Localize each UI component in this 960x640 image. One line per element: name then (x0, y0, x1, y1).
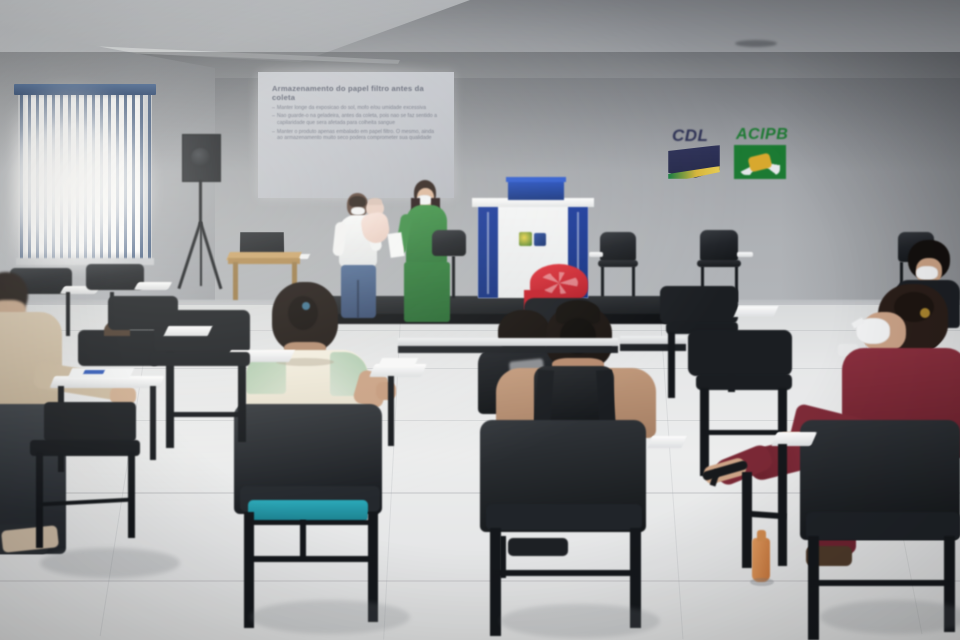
podium-emblem-right (534, 233, 546, 246)
podium-riser-lip (506, 177, 566, 182)
chair-seat (150, 352, 250, 366)
chair-leg (632, 266, 635, 300)
floor-shadow (40, 548, 180, 578)
podium-groove (487, 212, 489, 294)
attendee-left-chair-seat (30, 440, 140, 456)
floor-shadow (250, 600, 410, 634)
chair-leg (166, 352, 174, 448)
empty-chair-back[interactable] (700, 230, 738, 262)
slide-bullet: Nao guarde-o na geladeira, antes da cole… (272, 113, 440, 126)
chair-behind-presenters[interactable] (432, 230, 466, 256)
slide-bullet: Manter longe da exposicao do sol, mofo e… (272, 105, 440, 111)
bandana-paisley-pattern (540, 272, 578, 294)
paper-on-desk (378, 358, 418, 367)
jeans-seam (357, 280, 359, 318)
bottle-shadow (750, 578, 774, 586)
female-presenter-dress-skirt (404, 262, 450, 322)
chair-stretcher (704, 430, 784, 435)
wall-logos: CDL ACIPB (664, 126, 794, 198)
hair-clip (302, 302, 310, 310)
chair-tablet-arm (734, 306, 779, 317)
floor-shadow (500, 604, 660, 638)
chair-leg (742, 472, 752, 568)
chair-leg (808, 536, 819, 640)
desk-leg (388, 376, 394, 446)
empty-chair-back[interactable] (108, 296, 178, 330)
desk-leg (150, 386, 156, 460)
notebook-spine (83, 370, 105, 374)
empty-chair-back[interactable] (600, 232, 636, 262)
chair-leg (668, 332, 675, 398)
empty-chair-back[interactable] (660, 286, 738, 324)
chair-tablet-arm (737, 252, 753, 257)
male-presenter-hair (349, 196, 366, 207)
speaker-cone (191, 148, 210, 167)
water-bottle[interactable] (752, 538, 770, 582)
podium-emblem-left (519, 232, 532, 246)
chair-stretcher (494, 570, 636, 576)
empty-chair-back[interactable] (688, 330, 792, 376)
podium-riser (508, 180, 564, 200)
chair-stretcher (500, 536, 506, 578)
attendee-left-chair-back[interactable] (44, 402, 136, 442)
chair-leg (66, 292, 70, 336)
chair-stretcher (248, 556, 374, 562)
chair-leg (778, 444, 787, 566)
table-top-edge (228, 258, 300, 264)
chair-tablet-arm (134, 282, 173, 290)
back-desk-edge (398, 346, 618, 353)
teal-item-on-chair (248, 500, 368, 522)
ceiling-vent (735, 40, 777, 47)
chair-stretcher (252, 520, 370, 525)
chair-leg (244, 512, 254, 628)
window-glow (12, 82, 158, 270)
chair-stretcher (812, 580, 950, 586)
chair-leg (36, 452, 43, 548)
tripod-leg (200, 222, 202, 286)
chair-leg (238, 358, 246, 442)
chair-tablet-arm (164, 326, 213, 336)
attendee-cream-hair-bun (288, 296, 318, 330)
slide-title: Armazenamento do papel filtro antes da c… (272, 84, 440, 102)
slide-bullet: Manter o produto apenas embalado em pape… (272, 129, 440, 142)
chair-leg (601, 266, 604, 300)
attendee-tank-chair-seat (486, 504, 642, 530)
acipb-logo-text: ACIPB (736, 126, 788, 144)
attendee-maroon-chair-seat (806, 512, 960, 540)
tripod-column (199, 180, 202, 226)
chair-tablet-arm (589, 252, 603, 257)
doll-cap (368, 198, 382, 205)
male-presenter-mask (351, 207, 365, 215)
chair-stretcher (170, 412, 244, 417)
back-desk-edge (620, 344, 686, 351)
conference-room-photo: Armazenamento do papel filtro antes da c… (0, 0, 960, 640)
cdl-logo-text: CDL (672, 126, 708, 146)
chair-tablet-arm (647, 436, 686, 448)
chair-leg (452, 256, 455, 298)
table-leg (233, 262, 238, 300)
chair-stretcher (300, 520, 306, 560)
bottle-cap (757, 530, 766, 541)
hair-accessory (920, 308, 930, 318)
attendee-backright-mask (916, 266, 938, 280)
chair-leg (128, 452, 135, 538)
floor-shadow (820, 600, 960, 634)
item-under-chair (508, 538, 568, 556)
projected-slide: Armazenamento do papel filtro antes da c… (262, 76, 450, 194)
